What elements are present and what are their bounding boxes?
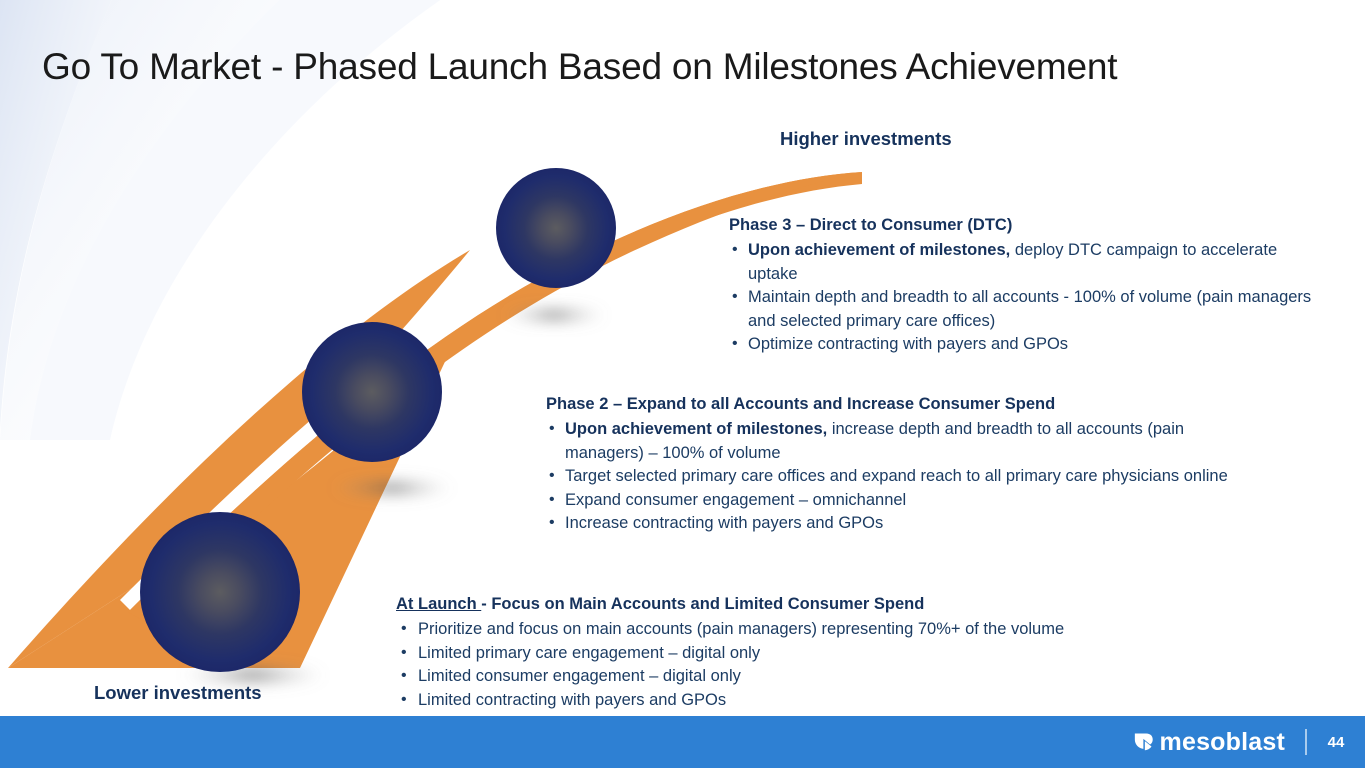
- phase-3-bullet-2: Maintain depth and breadth to all accoun…: [729, 286, 1329, 333]
- page-title: Go To Market - Phased Launch Based on Mi…: [42, 46, 1117, 88]
- phase-2-bullet-3-text: Expand consumer engagement – omnichannel: [565, 491, 906, 509]
- phase-2-bullet-2-text: Target selected primary care offices and…: [565, 467, 1228, 485]
- phase-3-bullet-1-bold: Upon achievement of milestones,: [748, 241, 1010, 259]
- phase-2-bullet-1: Upon achievement of milestones, increase…: [546, 418, 1266, 465]
- phase-3-bullet-list: Upon achievement of milestones, deploy D…: [729, 239, 1329, 357]
- phase-2-bullet-list: Upon achievement of milestones, increase…: [546, 418, 1266, 536]
- footer-brand-group: mesoblast 44: [1132, 716, 1347, 768]
- at-launch-heading-rest: - Focus on Main Accounts and Limited Con…: [481, 595, 924, 613]
- sphere-shadow-phase2: [332, 477, 452, 499]
- at-launch-bullet-1: Prioritize and focus on main accounts (p…: [396, 618, 1196, 642]
- at-launch-bullet-4-text: Limited contracting with payers and GPOs: [418, 691, 726, 709]
- footer-bar: mesoblast 44: [0, 716, 1365, 768]
- mesoblast-leaf-icon: [1132, 729, 1158, 755]
- at-launch-bullet-3-text: Limited consumer engagement – digital on…: [418, 667, 741, 685]
- at-launch-bullet-1-text: Prioritize and focus on main accounts (p…: [418, 620, 1064, 638]
- phase-2-bullet-4-text: Increase contracting with payers and GPO…: [565, 514, 883, 532]
- slide-canvas: Go To Market - Phased Launch Based on Mi…: [0, 0, 1365, 768]
- at-launch-bullet-3: Limited consumer engagement – digital on…: [396, 665, 1196, 689]
- at-launch-bullet-list: Prioritize and focus on main accounts (p…: [396, 618, 1196, 712]
- at-launch-bullet-2: Limited primary care engagement – digita…: [396, 642, 1196, 666]
- phase-2-bullet-4: Increase contracting with payers and GPO…: [546, 512, 1266, 536]
- at-launch-bullet-2-text: Limited primary care engagement – digita…: [418, 644, 760, 662]
- phase-3-bullet-3-text: Optimize contracting with payers and GPO…: [748, 335, 1068, 353]
- mesoblast-wordmark: mesoblast: [1160, 730, 1285, 755]
- phase-2-heading: Phase 2 – Expand to all Accounts and Inc…: [546, 393, 1266, 415]
- higher-investments-label: Higher investments: [780, 128, 952, 150]
- sphere-shadow-phase3: [502, 305, 606, 325]
- page-number: 44: [1325, 734, 1347, 751]
- phase-2-block: Phase 2 – Expand to all Accounts and Inc…: [546, 393, 1266, 536]
- phase-2-bullet-2: Target selected primary care offices and…: [546, 465, 1266, 489]
- milestone-sphere-launch: [140, 512, 300, 672]
- lower-investments-label: Lower investments: [94, 682, 262, 704]
- phase-3-bullet-1: Upon achievement of milestones, deploy D…: [729, 239, 1329, 286]
- phase-2-bullet-1-bold: Upon achievement of milestones,: [565, 420, 827, 438]
- at-launch-heading: At Launch - Focus on Main Accounts and L…: [396, 593, 1196, 615]
- phase-3-block: Phase 3 – Direct to Consumer (DTC) Upon …: [729, 214, 1329, 357]
- phase-3-heading: Phase 3 – Direct to Consumer (DTC): [729, 214, 1329, 236]
- at-launch-heading-underlined: At Launch: [396, 595, 481, 613]
- footer-divider: [1305, 729, 1307, 755]
- at-launch-bullet-4: Limited contracting with payers and GPOs: [396, 689, 1196, 713]
- milestone-sphere-phase3: [496, 168, 616, 288]
- at-launch-block: At Launch - Focus on Main Accounts and L…: [396, 593, 1196, 712]
- phase-3-bullet-3: Optimize contracting with payers and GPO…: [729, 333, 1329, 357]
- phase-2-bullet-3: Expand consumer engagement – omnichannel: [546, 489, 1266, 513]
- phase-3-bullet-2-text: Maintain depth and breadth to all accoun…: [748, 288, 1311, 330]
- milestone-sphere-phase2: [302, 322, 442, 462]
